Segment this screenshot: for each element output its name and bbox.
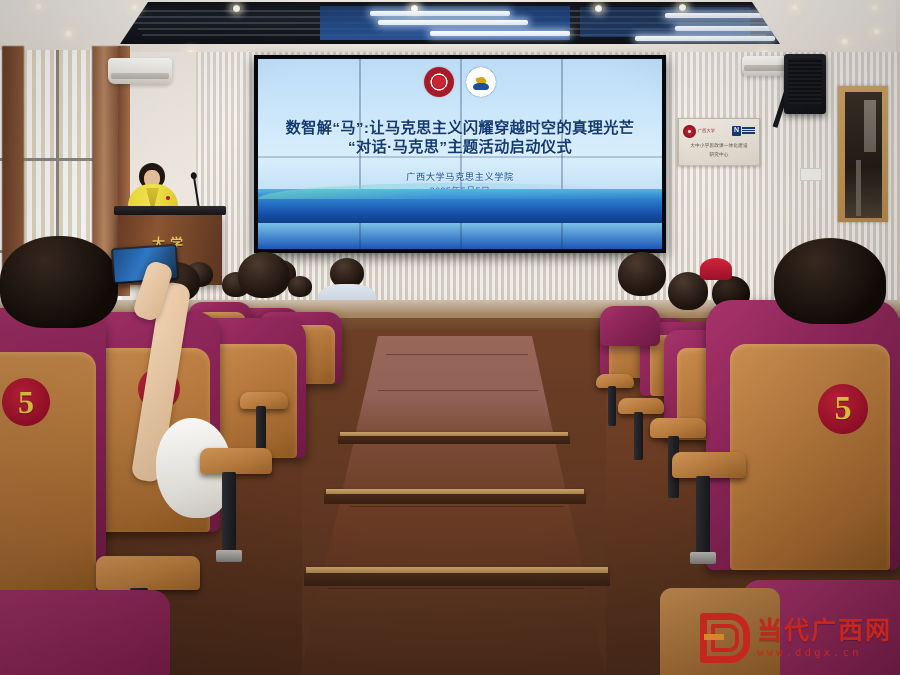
blue-emblem-icon: [466, 67, 496, 97]
red-emblem-icon: [424, 67, 454, 97]
wall-plaque: 广西大学 N 大中小学思政课一体化建设 研究中心: [678, 118, 760, 166]
red-hair-accessory: [700, 258, 732, 280]
title-line-1: 数智解“马”:让马克思主义闪耀穿越时空的真理光芒: [258, 119, 662, 138]
watermark-url: www.ddgx.cn: [757, 648, 892, 659]
podium-top-surface: [114, 206, 226, 215]
audience-head-foreground: [0, 236, 118, 328]
water-graphic: [258, 189, 662, 223]
seat-row-5[interactable]: 5: [706, 300, 900, 570]
watermark-text: 当代广西网 www.ddgx.cn: [757, 618, 892, 659]
presentation-logos: [258, 67, 662, 97]
armrest-foot: [690, 552, 716, 564]
plaque-line-1: 大中小学思政课一体化建设: [683, 142, 755, 149]
plaque-center-badge: N: [732, 126, 755, 136]
video-wall-screen: 数智解“马”:让马克思主义闪耀穿越时空的真理光芒 “对话·马克思”主题活动启动仪…: [258, 59, 662, 249]
presenter-lapel-pin: [166, 196, 170, 200]
armrest: [96, 556, 200, 590]
seat-foreground-left[interactable]: [0, 590, 170, 675]
plaque-logos: 广西大学 N: [683, 122, 755, 140]
armrest: [200, 448, 272, 474]
presentation-title: 数智解“马”:让马克思主义闪耀穿越时空的真理光芒 “对话·马克思”主题活动启动仪…: [258, 119, 662, 159]
armrest: [672, 452, 746, 478]
air-conditioner-right: [742, 56, 788, 76]
photo-scene: 广西大学 N 大中小学思政课一体化建设 研究中心 数智解“马”:让马克思主义闪耀…: [0, 0, 900, 675]
air-conditioner-left: [108, 58, 172, 84]
plaque-university-seal-icon: [683, 125, 696, 138]
seat[interactable]: [600, 306, 660, 346]
aisle-step-riser: [338, 436, 570, 444]
plaque-university-name: 广西大学: [698, 128, 715, 134]
seat[interactable]: 5: [0, 308, 106, 598]
armrest-foot: [216, 550, 242, 562]
plaque-badge-lines: [742, 127, 755, 135]
watermark: 当代广西网 www.ddgx.cn: [700, 613, 892, 663]
armrest-stem: [608, 386, 616, 426]
armrest-stem: [634, 412, 643, 460]
plaque-badge-letter: N: [732, 126, 741, 136]
door-glass: [864, 100, 876, 152]
audience-head: [288, 276, 312, 297]
armrest-stem: [696, 476, 710, 556]
wall-switch-plate[interactable]: [800, 168, 822, 181]
title-line-2: “对话·马克思”主题活动启动仪式: [258, 138, 662, 159]
skyline-graphic: [258, 189, 662, 223]
seat-number-badge: 5: [818, 384, 868, 434]
aisle-step-riser: [304, 573, 610, 586]
wall-speaker: [784, 54, 826, 114]
armrest: [650, 418, 706, 438]
led-video-wall[interactable]: 数智解“马”:让马克思主义闪耀穿越时空的真理光芒 “对话·马克思”主题活动启动仪…: [254, 55, 666, 253]
audience-head-foreground: [774, 238, 886, 324]
armrest-stem: [222, 472, 236, 554]
door-handle[interactable]: [856, 160, 861, 216]
audience-head: [238, 252, 290, 298]
watermark-brand: 当代广西网: [757, 618, 892, 643]
aisle-step-riser: [324, 494, 586, 504]
seat-number-badge: 5: [2, 378, 50, 426]
plaque-line-2: 研究中心: [683, 151, 755, 158]
watermark-logo-icon: [700, 613, 750, 663]
audience-head: [618, 252, 666, 296]
